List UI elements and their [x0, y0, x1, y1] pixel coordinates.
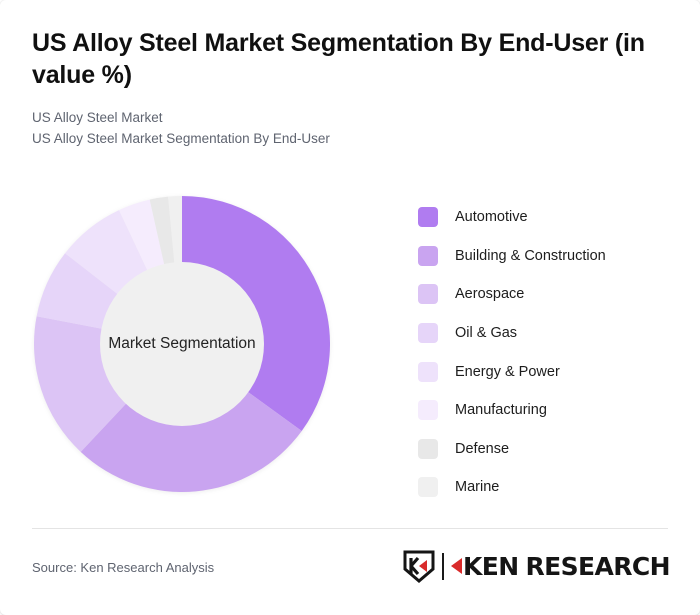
- legend-item[interactable]: Automotive: [418, 198, 680, 237]
- legend-swatch-icon: [418, 362, 438, 382]
- donut-svg: [34, 196, 330, 492]
- subtitle-block: US Alloy Steel Market US Alloy Steel Mar…: [32, 108, 657, 150]
- source-note: Source: Ken Research Analysis: [32, 560, 214, 575]
- legend-item-label: Aerospace: [455, 286, 524, 302]
- legend-swatch-icon: [418, 439, 438, 459]
- legend-swatch-icon: [418, 323, 438, 343]
- logo-wordmark: KEN RESEARCH: [451, 554, 670, 579]
- legend-item-label: Automotive: [455, 209, 528, 225]
- legend-item-label: Marine: [455, 479, 499, 495]
- logo-word-ken: KEN: [463, 554, 519, 579]
- legend-swatch-icon: [418, 246, 438, 266]
- chart-legend: AutomotiveBuilding & ConstructionAerospa…: [418, 198, 680, 507]
- legend-item[interactable]: Aerospace: [418, 275, 680, 314]
- legend-item[interactable]: Building & Construction: [418, 237, 680, 276]
- legend-swatch-icon: [418, 284, 438, 304]
- legend-item[interactable]: Energy & Power: [418, 352, 680, 391]
- donut-hole: [100, 262, 264, 426]
- legend-item-label: Energy & Power: [455, 364, 560, 380]
- logo-word-research: RESEARCH: [526, 554, 670, 579]
- donut-chart: Market Segmentation: [34, 196, 330, 492]
- chart-header: US Alloy Steel Market Segmentation By En…: [32, 28, 657, 150]
- legend-item[interactable]: Marine: [418, 468, 680, 507]
- page-title: US Alloy Steel Market Segmentation By En…: [32, 28, 657, 91]
- logo-triangle-icon: [451, 558, 462, 574]
- ken-research-logo: KEN RESEARCH: [402, 548, 670, 584]
- logo-divider: [442, 553, 444, 580]
- legend-swatch-icon: [418, 207, 438, 227]
- subtitle-segmentation: US Alloy Steel Market Segmentation By En…: [32, 129, 657, 150]
- legend-swatch-icon: [418, 400, 438, 420]
- legend-item-label: Oil & Gas: [455, 325, 517, 341]
- subtitle-market: US Alloy Steel Market: [32, 108, 657, 129]
- legend-item[interactable]: Defense: [418, 430, 680, 469]
- legend-item-label: Manufacturing: [455, 402, 547, 418]
- ken-research-shield-icon: [402, 549, 436, 583]
- chart-card: US Alloy Steel Market Segmentation By En…: [0, 0, 700, 615]
- legend-swatch-icon: [418, 477, 438, 497]
- legend-item[interactable]: Manufacturing: [418, 391, 680, 430]
- legend-item[interactable]: Oil & Gas: [418, 314, 680, 353]
- footer-divider: [32, 528, 668, 529]
- legend-item-label: Defense: [455, 441, 509, 457]
- legend-item-label: Building & Construction: [455, 248, 606, 264]
